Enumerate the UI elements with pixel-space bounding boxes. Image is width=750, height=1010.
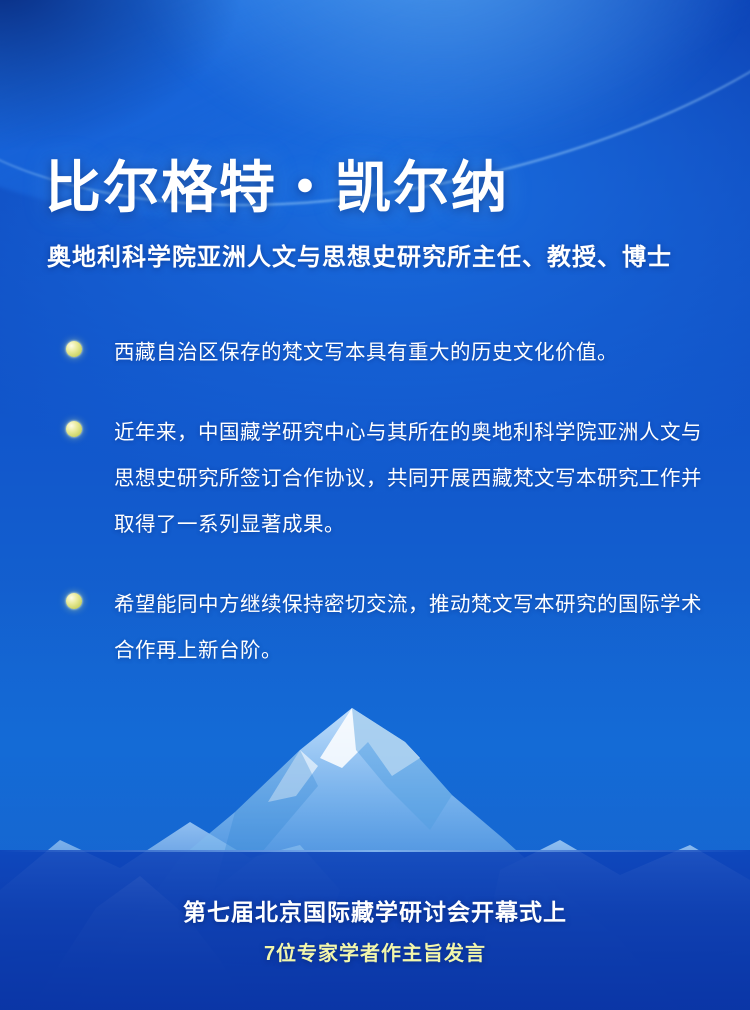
poster-canvas: 比尔格特・凯尔纳 奥地利科学院亚洲人文与思想史研究所主任、教授、博士 西藏自治区… bbox=[0, 0, 750, 1010]
bullet-dot-icon bbox=[66, 421, 82, 437]
footer-line-2: 7位专家学者作主旨发言 bbox=[0, 937, 750, 966]
list-item: 近年来，中国藏学研究中心与其所在的奥地利科学院亚洲人文与思想史研究所签订合作协议… bbox=[60, 410, 710, 548]
bullet-dot-icon bbox=[66, 593, 82, 609]
footer-line-1: 第七届北京国际藏学研讨会开幕式上 bbox=[0, 893, 750, 927]
list-item-text: 近年来，中国藏学研究中心与其所在的奥地利科学院亚洲人文与思想史研究所签订合作协议… bbox=[114, 410, 710, 548]
list-item: 西藏自治区保存的梵文写本具有重大的历史文化价值。 bbox=[60, 330, 710, 376]
top-left-shadow bbox=[0, 0, 240, 150]
page-subtitle: 奥地利科学院亚洲人文与思想史研究所主任、教授、博士 bbox=[47, 237, 672, 272]
page-title: 比尔格特・凯尔纳 bbox=[45, 143, 509, 224]
footer-text: 第七届北京国际藏学研讨会开幕式上 7位专家学者作主旨发言 bbox=[0, 893, 750, 966]
bullet-list: 西藏自治区保存的梵文写本具有重大的历史文化价值。 近年来，中国藏学研究中心与其所… bbox=[60, 330, 710, 708]
list-item-text: 西藏自治区保存的梵文写本具有重大的历史文化价值。 bbox=[114, 330, 710, 376]
list-item: 希望能同中方继续保持密切交流，推动梵文写本研究的国际学术合作再上新台阶。 bbox=[60, 582, 710, 674]
footer-divider bbox=[0, 850, 750, 852]
bullet-dot-icon bbox=[66, 341, 82, 357]
list-item-text: 希望能同中方继续保持密切交流，推动梵文写本研究的国际学术合作再上新台阶。 bbox=[114, 582, 710, 674]
